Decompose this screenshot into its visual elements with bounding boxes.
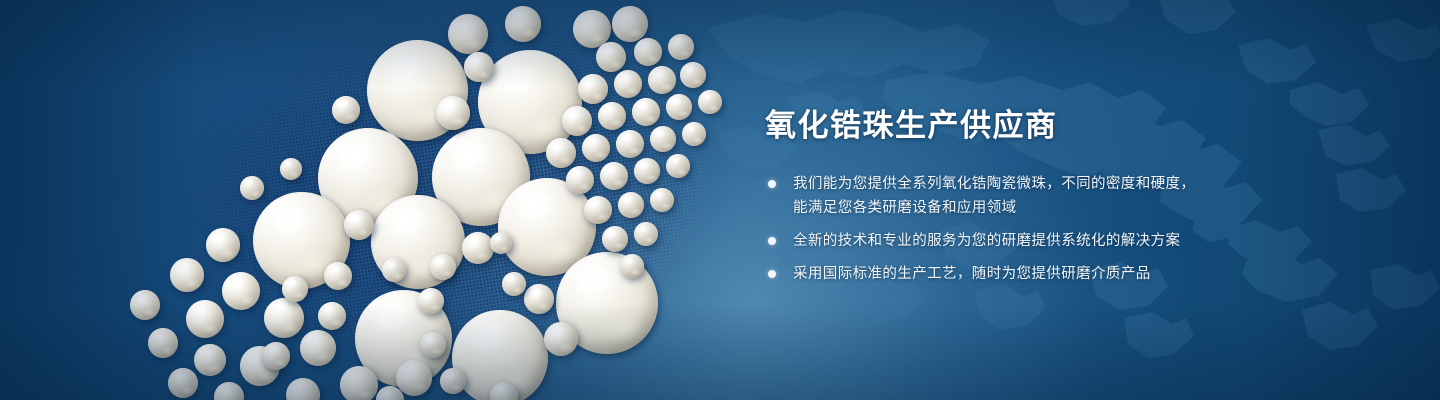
- bullet-dot-icon: [768, 270, 776, 278]
- bullet-dot-icon: [768, 180, 776, 188]
- page-title: 氧化锆珠生产供应商: [765, 106, 1405, 146]
- list-item-line1: 我们能为您提供全系列氧化锆陶瓷微珠，不同的密度和硬度，: [793, 176, 1195, 192]
- list-item-line1: 采用国际标准的生产工艺，随时为您提供研磨介质产品: [793, 266, 1151, 282]
- feature-list: 我们能为您提供全系列氧化锆陶瓷微珠，不同的密度和硬度， 能满足您各类研磨设备和应…: [765, 172, 1405, 286]
- list-item: 我们能为您提供全系列氧化锆陶瓷微珠，不同的密度和硬度， 能满足您各类研磨设备和应…: [765, 172, 1405, 220]
- hero-banner: 氧化锆珠生产供应商 我们能为您提供全系列氧化锆陶瓷微珠，不同的密度和硬度， 能满…: [0, 0, 1440, 400]
- list-item: 全新的技术和专业的服务为您的研磨提供系统化的解决方案: [765, 229, 1405, 253]
- bullet-dot-icon: [768, 237, 776, 245]
- list-item-line1: 全新的技术和专业的服务为您的研磨提供系统化的解决方案: [793, 233, 1180, 249]
- list-item: 采用国际标准的生产工艺，随时为您提供研磨介质产品: [765, 262, 1405, 286]
- list-item-line2: 能满足您各类研磨设备和应用领域: [793, 196, 1405, 220]
- banner-copy: 氧化锆珠生产供应商 我们能为您提供全系列氧化锆陶瓷微珠，不同的密度和硬度， 能满…: [765, 106, 1405, 295]
